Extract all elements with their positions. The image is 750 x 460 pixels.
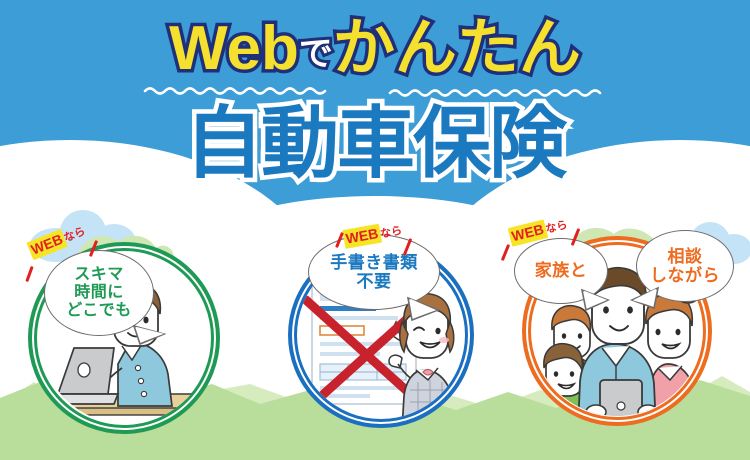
badge-anytime-anywhere: スキマ 時間に どこでも WEBなら xyxy=(22,238,228,438)
badge2-bubble-tail xyxy=(404,294,444,324)
insurance-promo-banner: Webでかんたん 自動車保険 xyxy=(0,0,750,460)
headline-wavy-underline xyxy=(0,84,750,98)
badge3-bubble-left-tail xyxy=(578,286,614,314)
headline-line-1: Webでかんたん xyxy=(0,18,750,80)
headline-kantan-text: かんたん xyxy=(333,14,581,83)
headline-particle-de: で xyxy=(299,35,333,73)
badge2-bubble-text: 手書き書類 不要 xyxy=(330,253,418,291)
headline-web-text: Web xyxy=(169,14,299,83)
badge1-bubble-text: スキマ 時間に どこでも xyxy=(66,266,132,320)
badge-no-handwriting: 手書き書類 不要 WEBなら xyxy=(278,230,484,438)
headline-line-2: 自動車保険 xyxy=(0,104,750,182)
badge3-bubble-right-text: 相談 しながら xyxy=(650,247,720,285)
badge1-bubble-tail xyxy=(130,322,170,348)
badge-with-family: 家族と 相談 しながら WEBなら xyxy=(502,228,740,434)
badge3-bubble-right-tail xyxy=(626,284,662,312)
badge3-bubble-left-text: 家族と xyxy=(535,261,588,280)
